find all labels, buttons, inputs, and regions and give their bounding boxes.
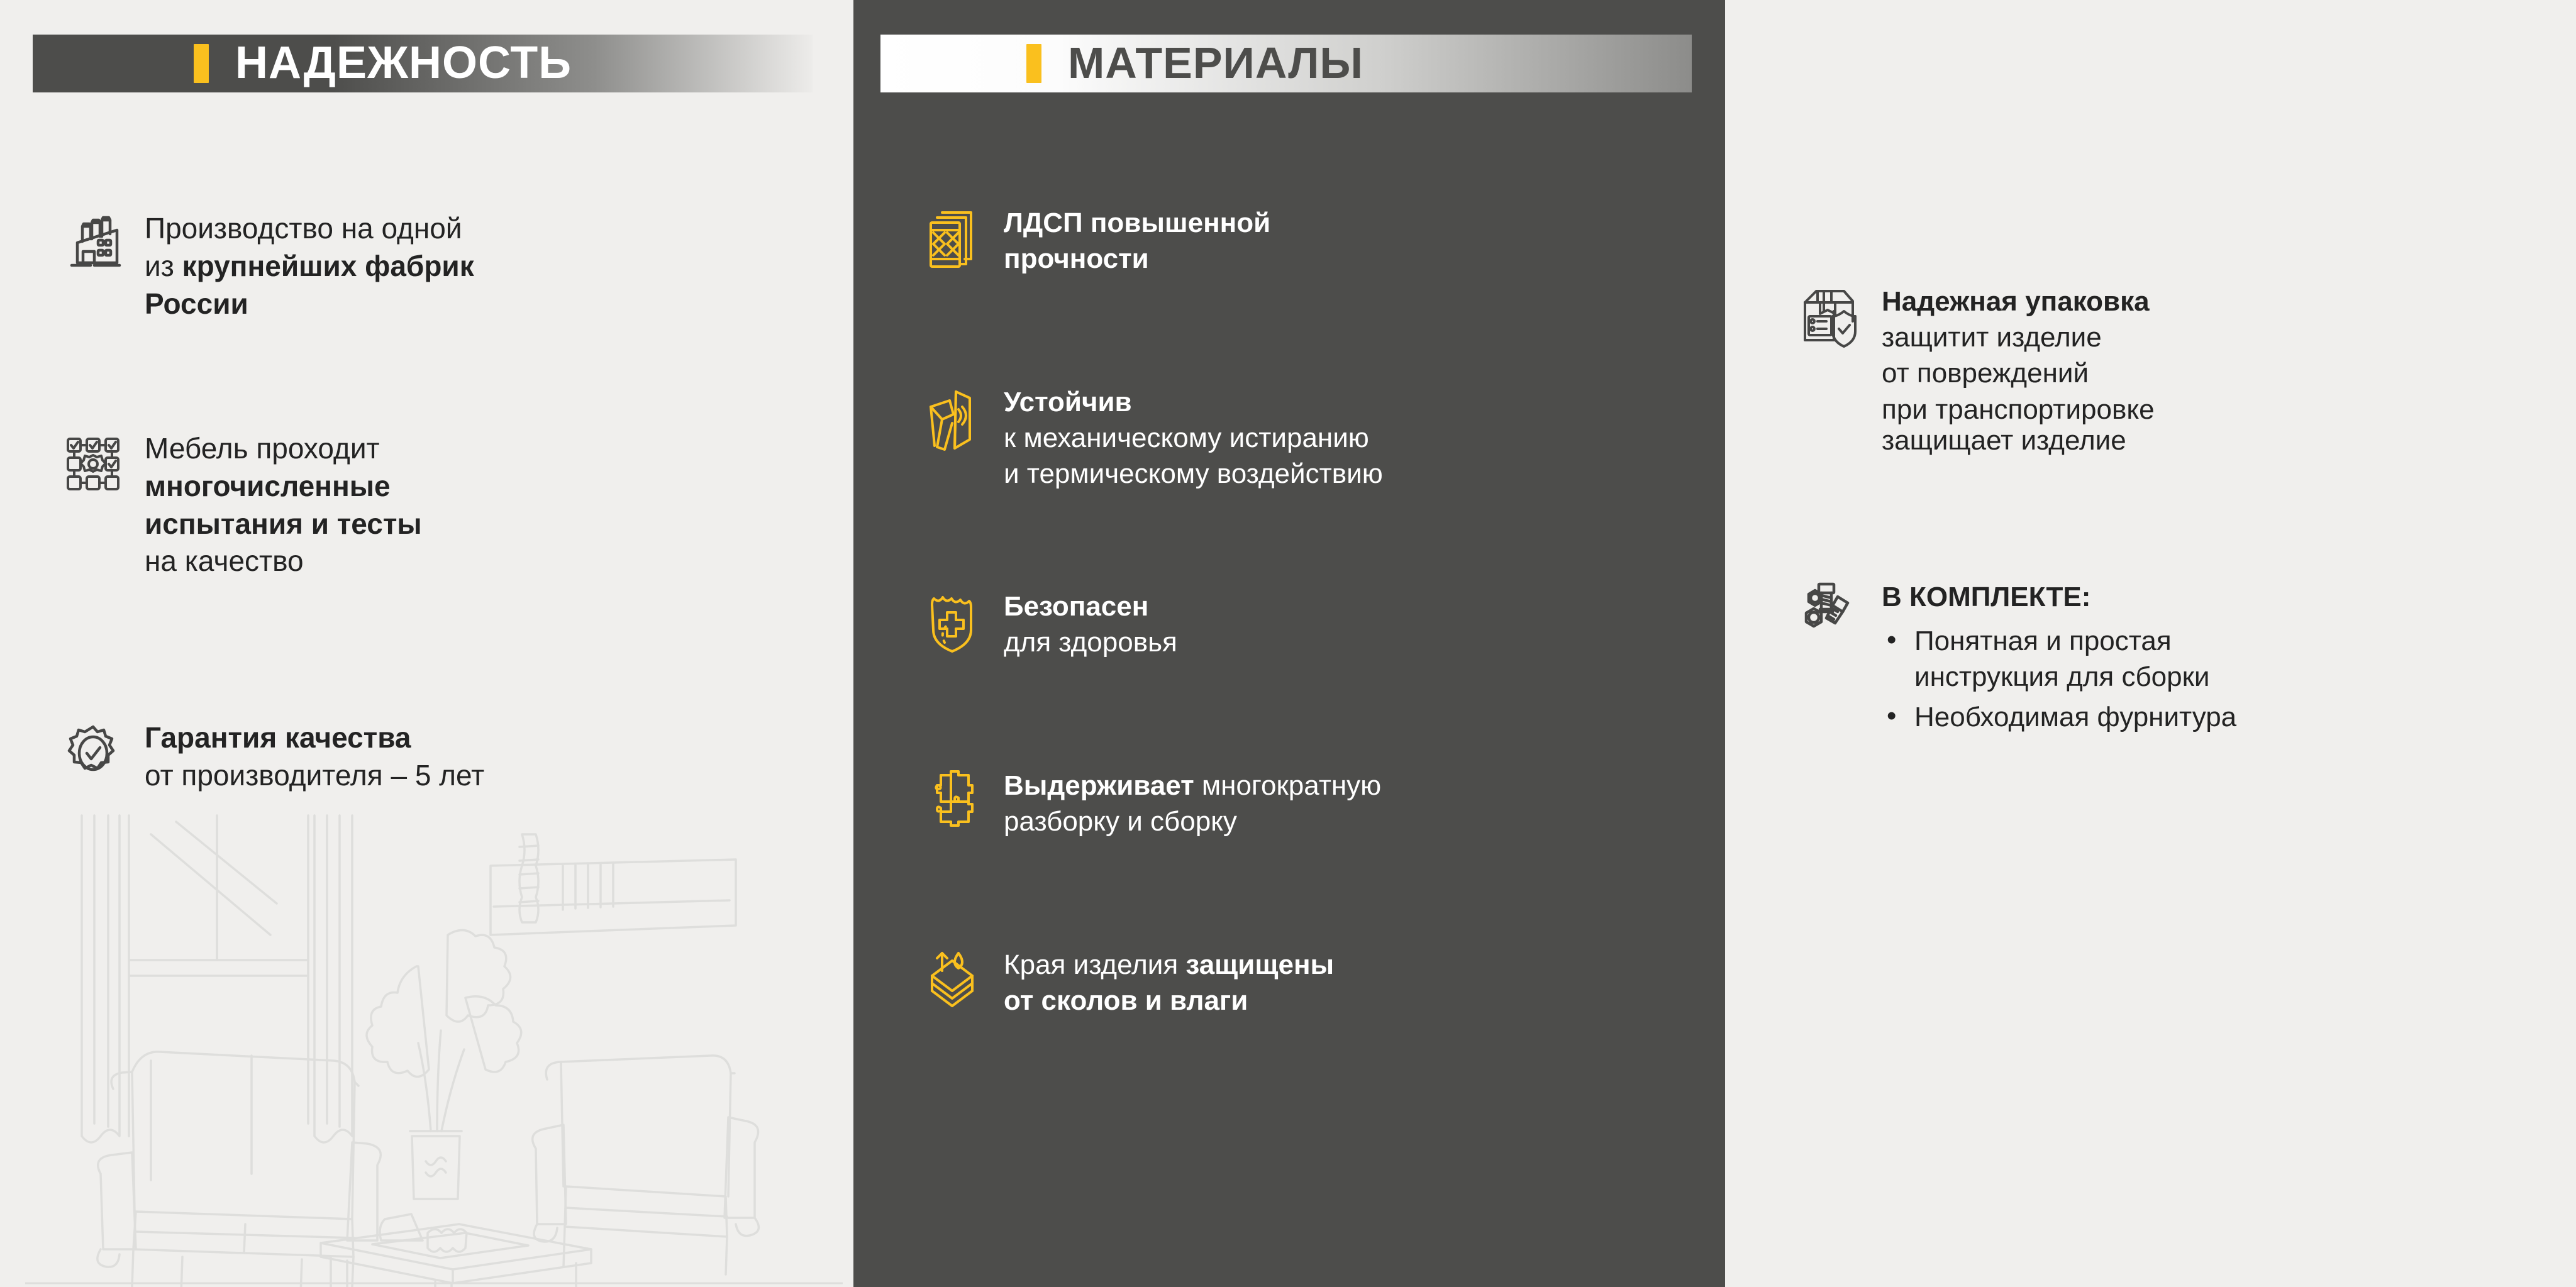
feature-package-text: Надежная упаковка защитит изделие от пов… [1882,284,2155,456]
bolts-nuts-icon [1799,582,1859,644]
protected-box-icon [1799,286,1859,349]
feature-edges-text: Края изделия защищены от сколов и влаги [1004,947,1334,1019]
feature-warranty-text: Гарантия качества от производителя – 5 л… [145,719,484,795]
feature-assembly: Выдерживает многократную разборку и сбор… [923,770,1665,839]
feature-ldsp-text: ЛДСП повышенной прочности [1004,205,1270,277]
feature-safe-text: Безопасен для здоровья [1004,588,1177,660]
panel-reliability: НАДЕЖНОСТЬ Производс [0,0,853,1287]
feature-kit-text: В КОМПЛЕКТЕ: Понятная и простаяинструкци… [1882,579,2236,740]
header-title-materials: МАТЕРИАЛЫ [1068,41,1363,86]
feature-package: Надежная упаковка защитит изделие от пов… [1799,286,2509,456]
feature-safe: Безопасен для здоровья [923,591,1646,660]
living-room-line-art [25,809,843,1287]
feature-stable-text: Устойчив к механическому истиранию и тер… [1004,384,1383,492]
infographic-stage: НАДЕЖНОСТЬ Производс [0,0,2576,1287]
puzzle-pieces-icon [923,770,981,833]
kit-list: Понятная и простаяинструкция для сборки … [1882,624,2236,735]
header-materials: МАТЕРИАЛЫ [880,35,1692,92]
kit-title: В КОМПЛЕКТЕ: [1882,579,2236,615]
shield-health-icon [923,591,981,654]
feature-assembly-text: Выдерживает многократную разборку и сбор… [1004,768,1381,839]
header-title-reliability: НАДЕЖНОСТЬ [235,40,572,86]
header-reliability: НАДЕЖНОСТЬ [33,35,813,92]
feature-tests-text: Мебель проходит многочисленные испытания… [145,430,422,580]
quality-badge-icon [63,723,123,783]
feature-edges: Края изделия защищены от сколов и влаги [923,949,1665,1019]
feature-factory: Производство на одной из крупнейших фабр… [63,214,786,323]
accent-bar-icon [1026,44,1041,83]
list-item: Понятная и простаяинструкция для сборки [1882,624,2236,695]
feature-warranty: Гарантия качества от производителя – 5 л… [63,723,786,795]
feature-tests: Мебель проходит многочисленные испытания… [63,434,786,580]
feature-stable: Устойчив к механическому истиранию и тер… [923,387,1665,492]
accent-bar-icon [194,44,209,83]
feature-kit: В КОМПЛЕКТЕ: Понятная и простаяинструкци… [1799,582,2528,740]
feature-factory-text: Производство на одной из крупнейших фабр… [145,210,474,323]
edge-protection-icon [923,949,981,1019]
chipboard-panels-icon [923,207,981,270]
factory-icon [63,214,123,274]
panel-packaging: УПАКОВКА И СБОРКА Надежна [1725,0,2576,1287]
quality-process-icon [63,434,123,494]
abrasion-resistance-icon [923,387,981,456]
list-item: Необходимая фурнитура [1882,700,2236,735]
feature-ldsp: ЛДСП повышенной прочности [923,207,1646,277]
